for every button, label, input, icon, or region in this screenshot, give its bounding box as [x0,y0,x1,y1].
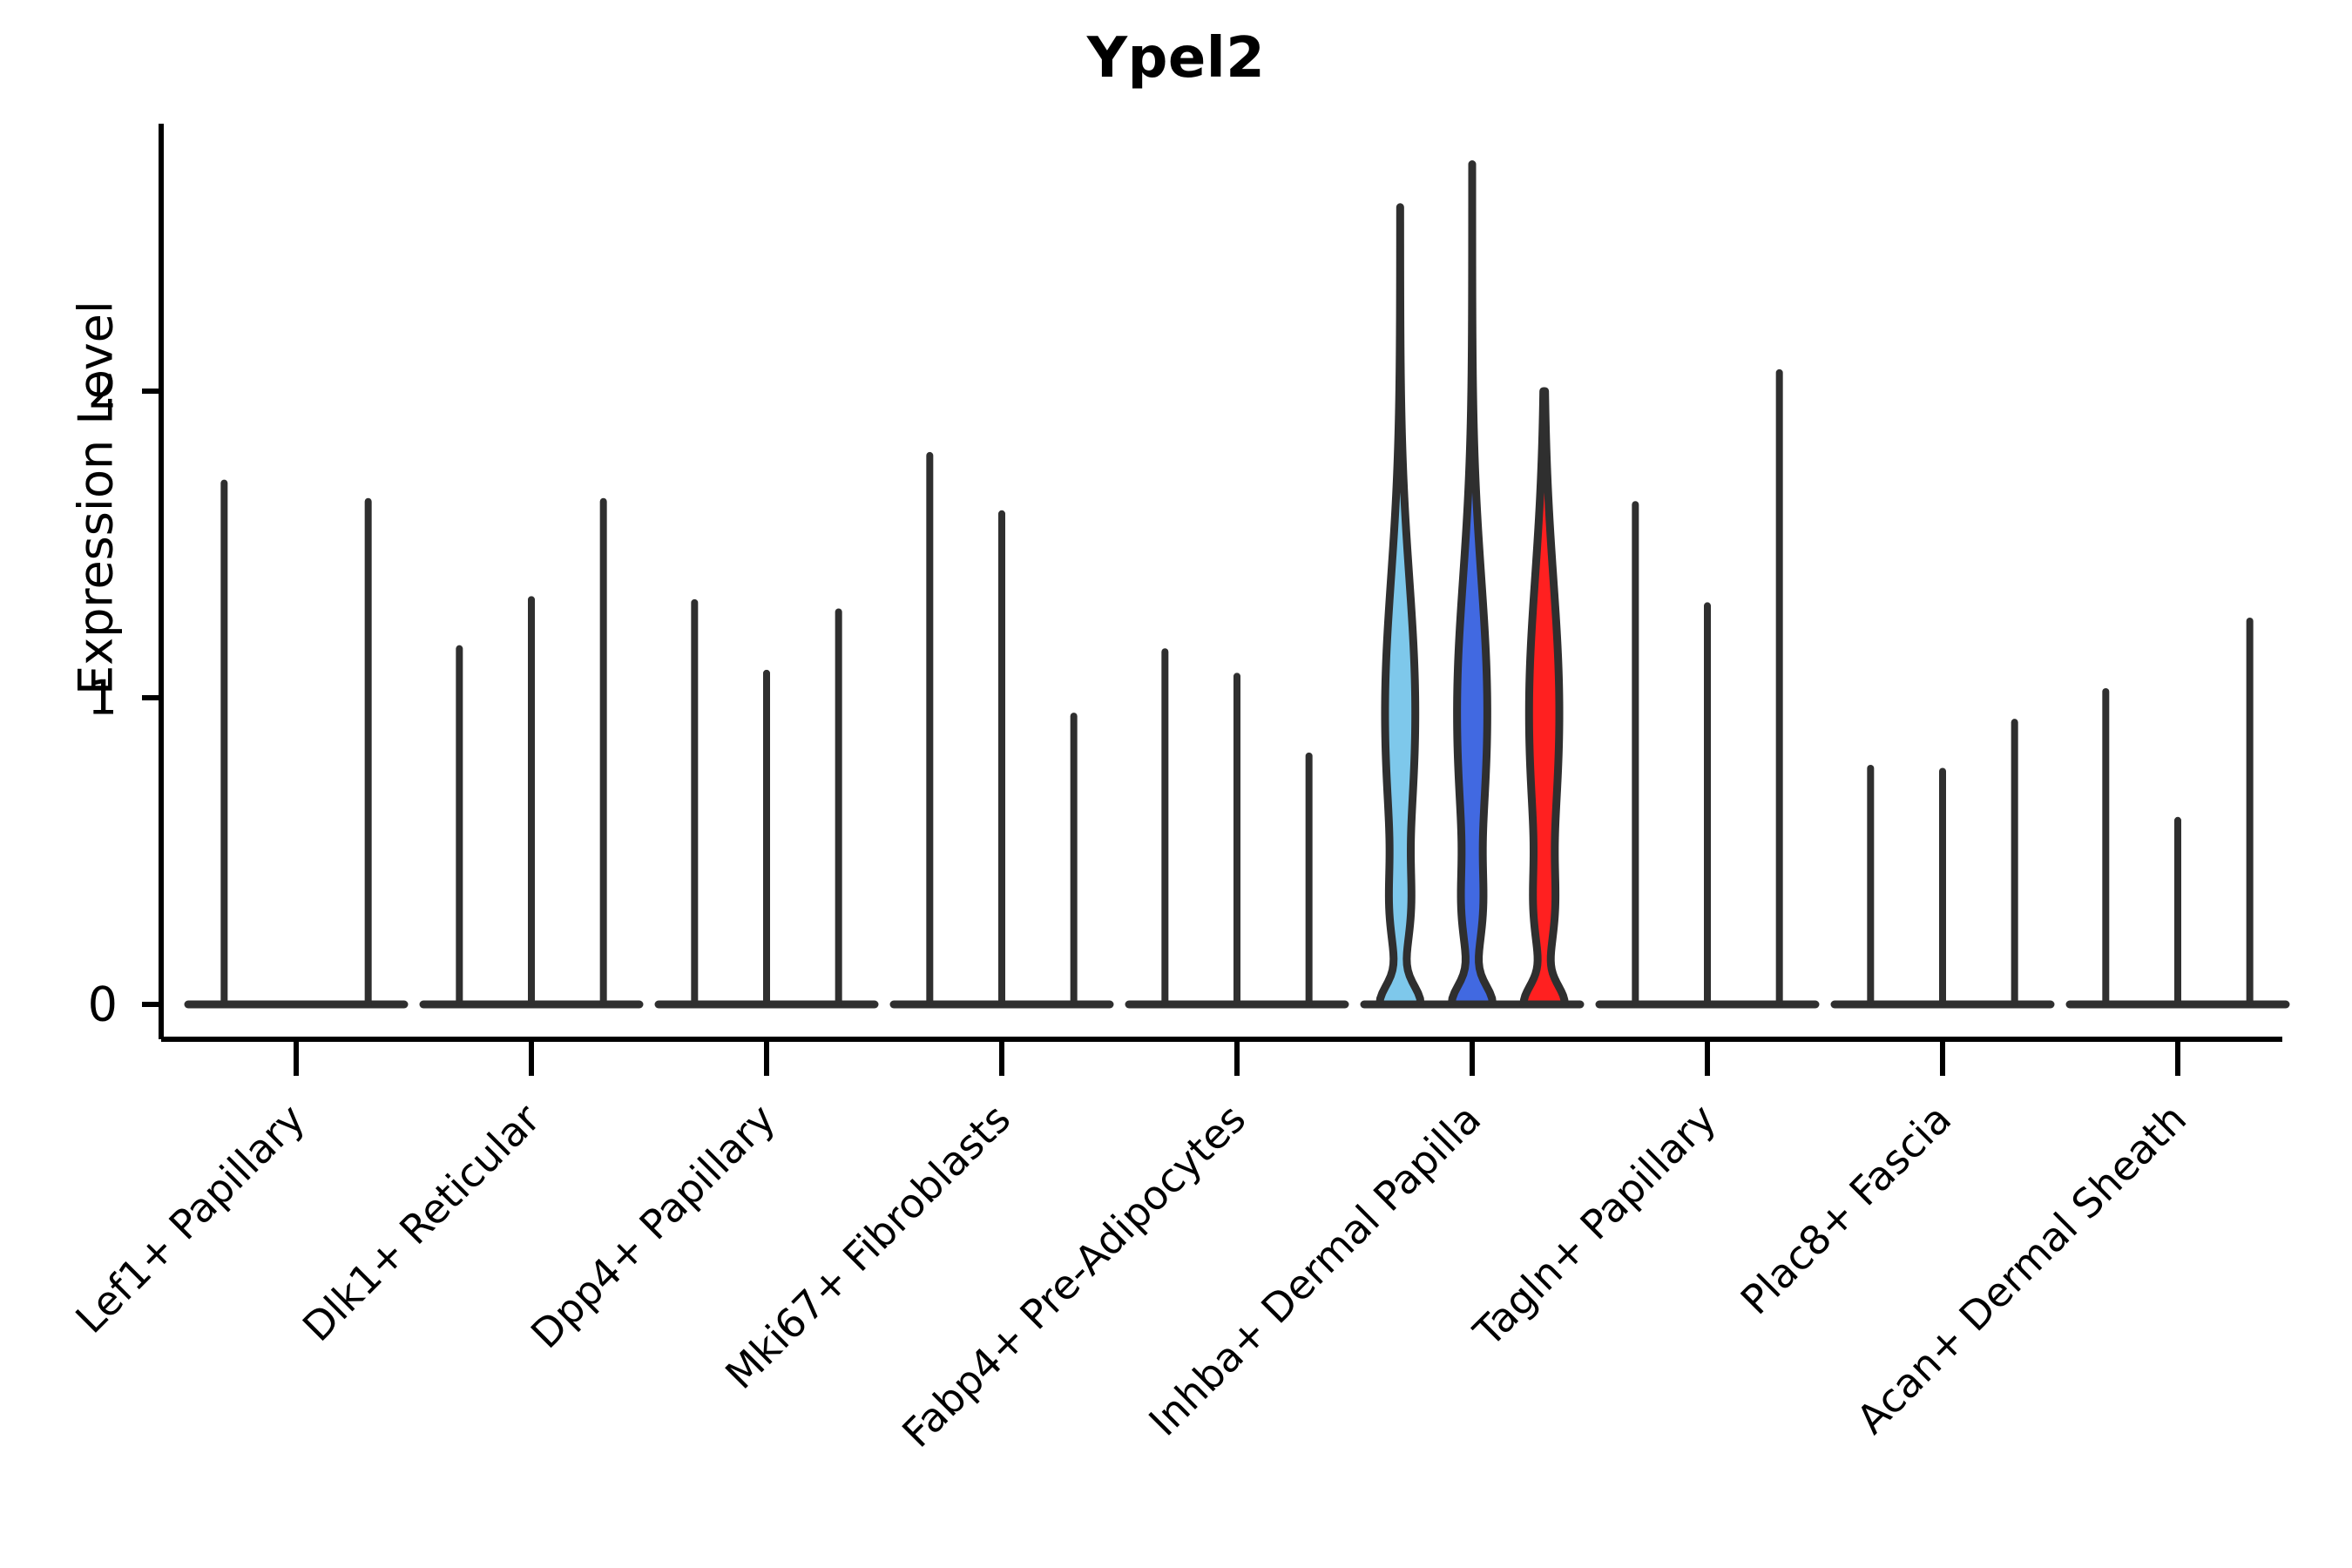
violin-shape[interactable] [1380,207,1421,1004]
violin-shape[interactable] [1524,391,1565,1004]
y-axis-tick-label: 1 [48,671,118,726]
violin-layer [188,165,2286,1004]
plot-canvas [0,0,2352,1568]
violin-body[interactable] [1451,165,1492,1004]
violin-body[interactable] [1524,391,1565,1004]
violin-plot-figure: Ypel2 Expression Level 012 Lef1+ Papilla… [0,0,2352,1568]
y-axis-tick-label: 0 [48,977,118,1032]
violin-body[interactable] [1380,207,1421,1004]
axes-layer [142,124,2282,1076]
y-axis-tick-label: 2 [48,364,118,419]
violin-shape[interactable] [1451,165,1492,1004]
